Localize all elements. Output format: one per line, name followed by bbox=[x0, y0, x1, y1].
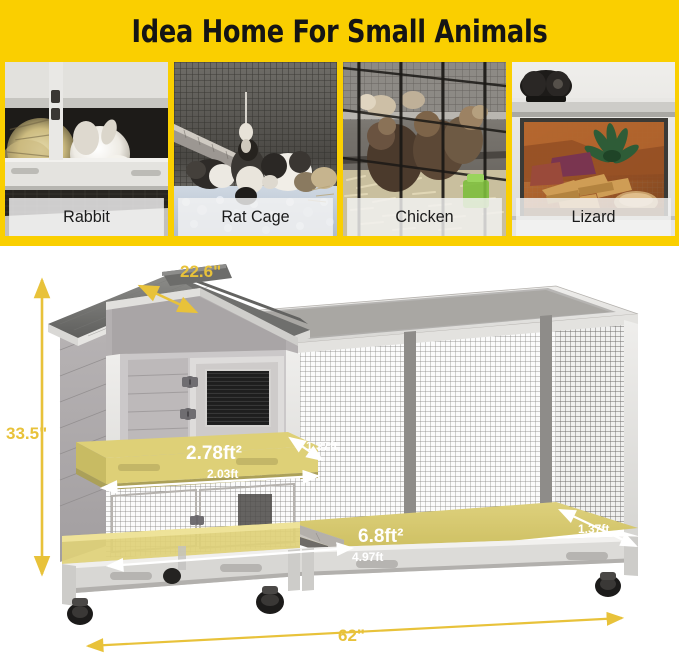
photo-card-rat-cage[interactable]: Rat Cage bbox=[174, 62, 337, 236]
dimension-label-upper-area: 2.78ft² bbox=[186, 443, 242, 464]
photo-caption-lizard: Lizard bbox=[516, 198, 671, 236]
hutch-illustration: 22.6" 33.5" 62" 2.78ft² 2.03ft 1.37ft 6.… bbox=[0, 246, 679, 660]
product-dimension-diagram: 22.6" 33.5" 62" 2.78ft² 2.03ft 1.37ft 6.… bbox=[0, 246, 679, 660]
promo-banner: Idea Home For Small Animals bbox=[0, 0, 679, 246]
photo-caption-rat-cage: Rat Cage bbox=[178, 198, 333, 236]
dimension-label-width-total: 62" bbox=[338, 626, 365, 645]
dimension-label-lower-area: 6.8ft² bbox=[358, 526, 403, 547]
dimension-label-lower-depth: 1.37ft bbox=[578, 522, 609, 536]
dimension-label-lower-width: 4.97ft bbox=[352, 550, 383, 564]
photo-card-lizard[interactable]: Lizard bbox=[512, 62, 675, 236]
lower-door-hinge-icon bbox=[190, 515, 204, 525]
dimension-width-total: 62" bbox=[88, 618, 622, 646]
photo-caption-chicken: Chicken bbox=[347, 198, 502, 236]
animal-photo-strip: Rabbit bbox=[5, 62, 675, 236]
photo-caption-rabbit: Rabbit bbox=[9, 198, 164, 236]
dimension-label-depth-top: 22.6" bbox=[180, 262, 221, 281]
dimension-height: 33.5" bbox=[6, 280, 47, 574]
page-title: Idea Home For Small Animals bbox=[27, 14, 652, 50]
dimension-label-height: 33.5" bbox=[6, 424, 47, 443]
photo-card-chicken[interactable]: Chicken bbox=[343, 62, 506, 236]
dimension-label-upper-width: 2.03ft bbox=[207, 467, 238, 481]
photo-card-rabbit[interactable]: Rabbit bbox=[5, 62, 168, 236]
dimension-label-upper-depth: 1.37ft bbox=[306, 439, 337, 453]
